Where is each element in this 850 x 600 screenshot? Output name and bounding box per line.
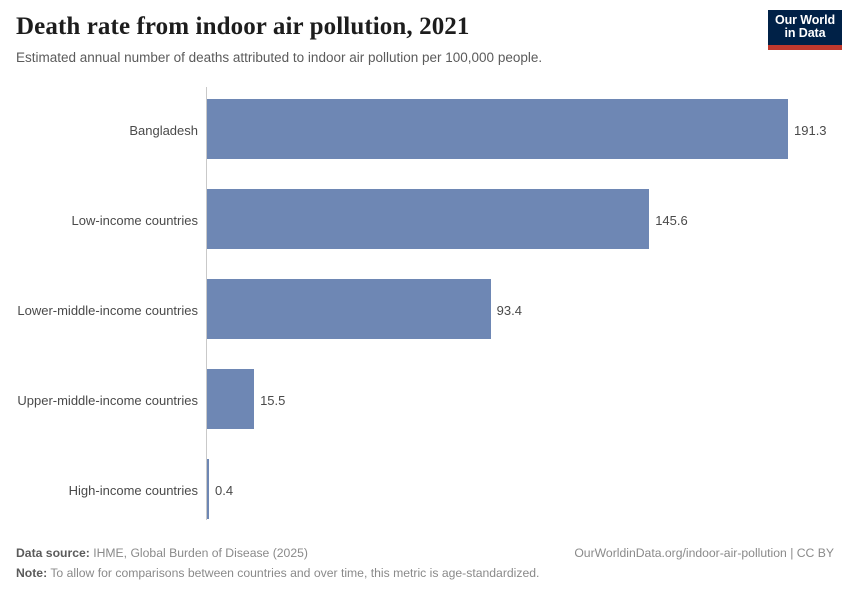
chart-header: Death rate from indoor air pollution, 20…	[16, 12, 834, 74]
footer-note-line: Note: To allow for comparisons between c…	[16, 563, 834, 583]
bar-value-label: 191.3	[794, 123, 827, 139]
category-label: High-income countries	[0, 483, 198, 499]
data-source-label: Data source:	[16, 546, 90, 560]
bar-value-label: 145.6	[655, 213, 688, 229]
note-label: Note:	[16, 566, 47, 580]
data-source-value: IHME, Global Burden of Disease (2025)	[90, 546, 308, 560]
bar-chart-plot-area: Bangladesh191.3Low-income countries145.6…	[0, 86, 850, 521]
bar[interactable]	[207, 99, 788, 159]
bar[interactable]	[207, 279, 491, 339]
logo-line-1: Our World	[775, 14, 835, 28]
bar[interactable]	[207, 369, 254, 429]
bar[interactable]	[207, 459, 209, 519]
category-label: Lower-middle-income countries	[0, 303, 198, 319]
page-title: Death rate from indoor air pollution, 20…	[16, 12, 834, 42]
category-label: Bangladesh	[0, 123, 198, 139]
bar[interactable]	[207, 189, 649, 249]
logo-line-2: in Data	[785, 27, 826, 41]
bar-row: Low-income countries145.6	[0, 176, 850, 266]
category-label: Low-income countries	[0, 213, 198, 229]
note-value: To allow for comparisons between countri…	[47, 566, 539, 580]
bar-row: Lower-middle-income countries93.4	[0, 266, 850, 356]
data-source: Data source: IHME, Global Burden of Dise…	[16, 543, 308, 563]
bar-value-label: 93.4	[497, 303, 522, 319]
bar-row: High-income countries0.4	[0, 446, 850, 536]
bar-value-label: 15.5	[260, 393, 285, 409]
our-world-in-data-logo[interactable]: Our World in Data	[768, 10, 842, 50]
category-label: Upper-middle-income countries	[0, 393, 198, 409]
attribution-link[interactable]: OurWorldinData.org/indoor-air-pollution …	[574, 543, 834, 563]
footer-source-line: Data source: IHME, Global Burden of Dise…	[16, 543, 834, 563]
chart-subtitle: Estimated annual number of deaths attrib…	[16, 49, 834, 67]
bar-row: Bangladesh191.3	[0, 86, 850, 176]
chart-footer: Data source: IHME, Global Burden of Dise…	[16, 543, 834, 587]
bar-value-label: 0.4	[215, 483, 233, 499]
bar-row: Upper-middle-income countries15.5	[0, 356, 850, 446]
chart-note: Note: To allow for comparisons between c…	[16, 563, 539, 583]
